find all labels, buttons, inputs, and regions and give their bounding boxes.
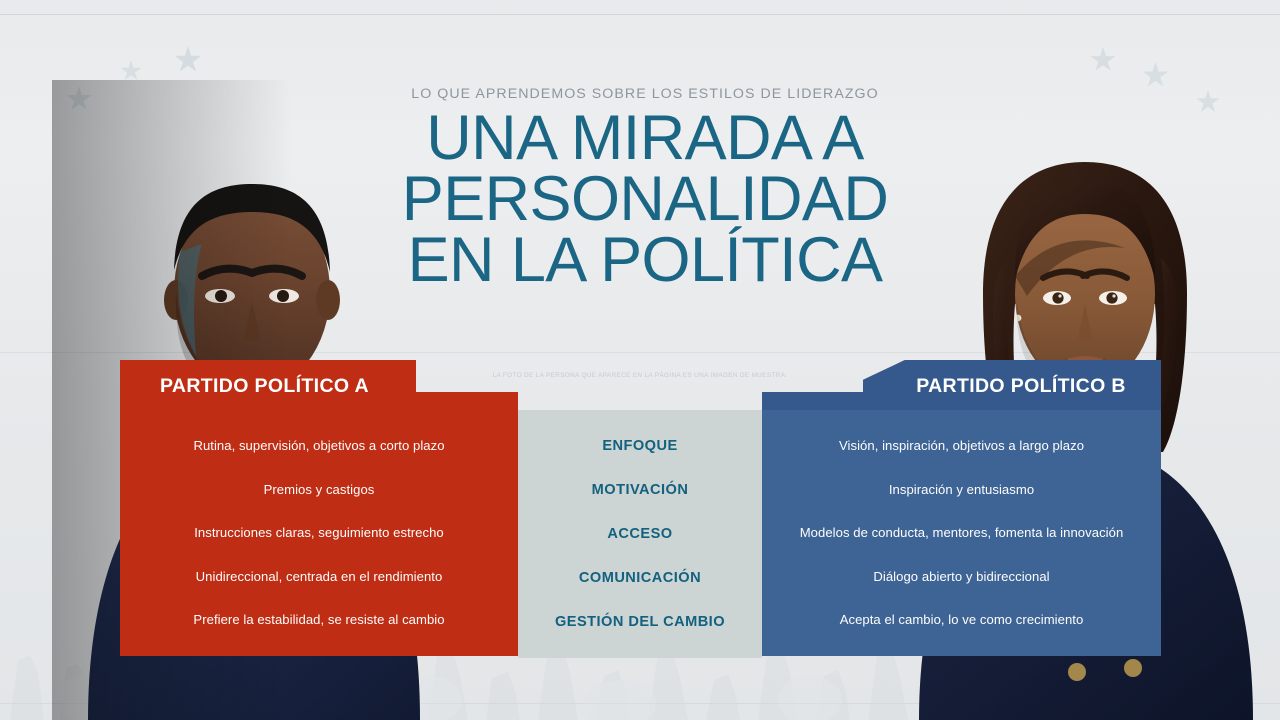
party-b-row: Acepta el cambio, lo ve como crecimiento bbox=[776, 612, 1147, 628]
party-a-row: Unidireccional, centrada en el rendimien… bbox=[134, 569, 504, 585]
party-a-panel: Rutina, supervisión, objetivos a corto p… bbox=[120, 410, 518, 656]
party-a-row: Rutina, supervisión, objetivos a corto p… bbox=[134, 438, 504, 454]
criteria-panel: ENFOQUE MOTIVACIÓN ACCESO COMUNICACIÓN G… bbox=[518, 410, 762, 658]
party-b-row: Modelos de conducta, mentores, fomenta l… bbox=[776, 525, 1147, 541]
criteria-label: ACCESO bbox=[532, 526, 748, 542]
party-a-header: PARTIDO POLÍTICO A bbox=[120, 360, 416, 412]
criteria-label: MOTIVACIÓN bbox=[532, 482, 748, 498]
criteria-label: ENFOQUE bbox=[532, 438, 748, 454]
party-b-panel: Visión, inspiración, objetivos a largo p… bbox=[762, 410, 1161, 656]
slide-canvas: LO QUE APRENDEMOS SOBRE LOS ESTILOS DE L… bbox=[0, 0, 1280, 720]
party-a-row: Premios y castigos bbox=[134, 482, 504, 498]
party-a-row: Instrucciones claras, seguimiento estrec… bbox=[134, 525, 504, 541]
party-b-header: PARTIDO POLÍTICO B bbox=[863, 360, 1161, 412]
party-a-row: Prefiere la estabilidad, se resiste al c… bbox=[134, 612, 504, 628]
party-b-row: Diálogo abierto y bidireccional bbox=[776, 569, 1147, 585]
criteria-label: COMUNICACIÓN bbox=[532, 570, 748, 586]
party-b-row: Visión, inspiración, objetivos a largo p… bbox=[776, 438, 1147, 454]
comparison-panels: PARTIDO POLÍTICO A PARTIDO POLÍTICO B Ru… bbox=[0, 0, 1280, 720]
party-b-row: Inspiración y entusiasmo bbox=[776, 482, 1147, 498]
party-b-title: PARTIDO POLÍTICO B bbox=[916, 375, 1126, 398]
party-a-title: PARTIDO POLÍTICO A bbox=[160, 375, 369, 398]
criteria-label: GESTIÓN DEL CAMBIO bbox=[532, 614, 748, 630]
